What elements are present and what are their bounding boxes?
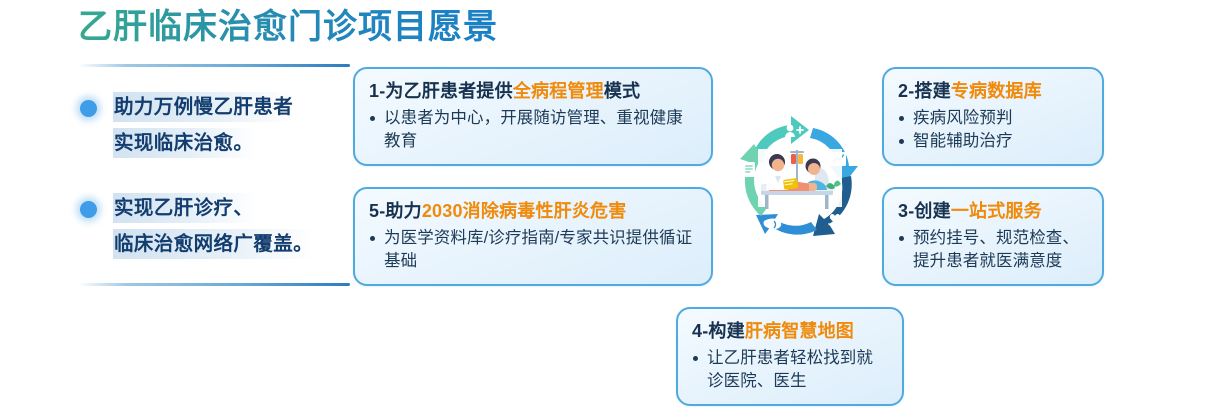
vision-line: 实现临床治愈。 <box>113 128 255 158</box>
list-item: 疾病风险预判 <box>898 107 1089 130</box>
list-item: 智能辅助治疗 <box>898 130 1089 153</box>
goal-number: 1- <box>369 81 385 101</box>
goal-card-5-bullets: 为医学资料库/诊疗指南/专家共识提供循证基础 <box>369 227 698 273</box>
goal-title-pre: 创建 <box>914 201 950 221</box>
goal-card-1-title: 1-为乙肝患者提供全病程管理模式 <box>369 79 698 103</box>
goal-title-highlight: 2030消除病毒性肝炎危害 <box>422 201 627 221</box>
list-item: 让乙肝患者轻松找到就诊医院、医生 <box>692 347 889 393</box>
list-item: 以患者为中心，开展随访管理、重视健康教育 <box>369 107 698 153</box>
goal-card-3-bullets: 预约挂号、规范检查、提升患者就医满意度 <box>898 227 1089 273</box>
vision-statement-1: 助力万例慢乙肝患者 实现临床治愈。 <box>80 92 352 164</box>
goal-card-1-bullets: 以患者为中心，开展随访管理、重视健康教育 <box>369 107 698 153</box>
goal-card-2-bullets: 疾病风险预判 智能辅助治疗 <box>898 107 1089 153</box>
goal-card-5: 5-助力2030消除病毒性肝炎危害 为医学资料库/诊疗指南/专家共识提供循证基础 <box>353 187 713 286</box>
goal-title-post: 模式 <box>604 81 640 101</box>
goal-card-4-bullets: 让乙肝患者轻松找到就诊医院、医生 <box>692 347 889 393</box>
vision-statement-2-text: 实现乙肝诊疗、 临床治愈网络广覆盖。 <box>113 193 352 265</box>
list-item: 预约挂号、规范检查、提升患者就医满意度 <box>898 227 1089 273</box>
bullet-dot-icon <box>80 100 97 117</box>
infographic-root: 乙肝临床治愈门诊项目愿景 助力万例慢乙肝患者 实现临床治愈。 实现乙肝诊疗、 临… <box>0 0 1219 414</box>
bullet-dot-icon <box>80 201 97 218</box>
vision-statement-1-text: 助力万例慢乙肝患者 实现临床治愈。 <box>113 92 352 164</box>
document-icon <box>743 162 755 177</box>
panel-divider-bottom <box>78 283 350 286</box>
goal-card-2-title: 2-搭建专病数据库 <box>898 79 1089 103</box>
page-title: 乙肝临床治愈门诊项目愿景 <box>78 4 498 50</box>
goal-title-pre: 助力 <box>385 201 421 221</box>
goal-number: 3- <box>898 201 914 221</box>
goal-number: 2- <box>898 81 914 101</box>
vision-statement-2: 实现乙肝诊疗、 临床治愈网络广覆盖。 <box>80 193 352 265</box>
list-item: 为医学资料库/诊疗指南/专家共识提供循证基础 <box>369 227 698 273</box>
goal-title-pre: 构建 <box>708 321 744 341</box>
vision-line: 临床治愈网络广覆盖。 <box>113 229 315 259</box>
goal-card-5-title: 5-助力2030消除病毒性肝炎危害 <box>369 199 698 223</box>
goal-number: 5- <box>369 201 385 221</box>
goal-title-highlight: 专病数据库 <box>951 81 1042 101</box>
goal-card-1: 1-为乙肝患者提供全病程管理模式 以患者为中心，开展随访管理、重视健康教育 <box>353 67 713 166</box>
goal-card-3: 3-创建一站式服务 预约挂号、规范检查、提升患者就医满意度 <box>882 187 1104 286</box>
goal-number: 4- <box>692 321 708 341</box>
doctor-patient-care-cycle-illustration <box>725 104 875 264</box>
vision-line: 助力万例慢乙肝患者 <box>113 92 295 122</box>
goal-title-highlight: 一站式服务 <box>951 201 1042 221</box>
goal-card-3-title: 3-创建一站式服务 <box>898 199 1089 223</box>
goal-title-pre: 为乙肝患者提供 <box>385 81 512 101</box>
goal-card-4-title: 4-构建肝病智慧地图 <box>692 319 889 343</box>
doctor-patient-scene-icon <box>758 149 842 209</box>
panel-divider-top <box>78 64 350 67</box>
vision-summary-panel: 助力万例慢乙肝患者 实现临床治愈。 实现乙肝诊疗、 临床治愈网络广覆盖。 <box>78 64 350 286</box>
goal-title-pre: 搭建 <box>914 81 950 101</box>
goal-card-2: 2-搭建专病数据库 疾病风险预判 智能辅助治疗 <box>882 67 1104 166</box>
goal-title-highlight: 肝病智慧地图 <box>745 321 854 341</box>
vision-line: 实现乙肝诊疗、 <box>113 193 255 223</box>
goal-card-4: 4-构建肝病智慧地图 让乙肝患者轻松找到就诊医院、医生 <box>676 307 904 406</box>
goal-title-highlight: 全病程管理 <box>513 81 604 101</box>
